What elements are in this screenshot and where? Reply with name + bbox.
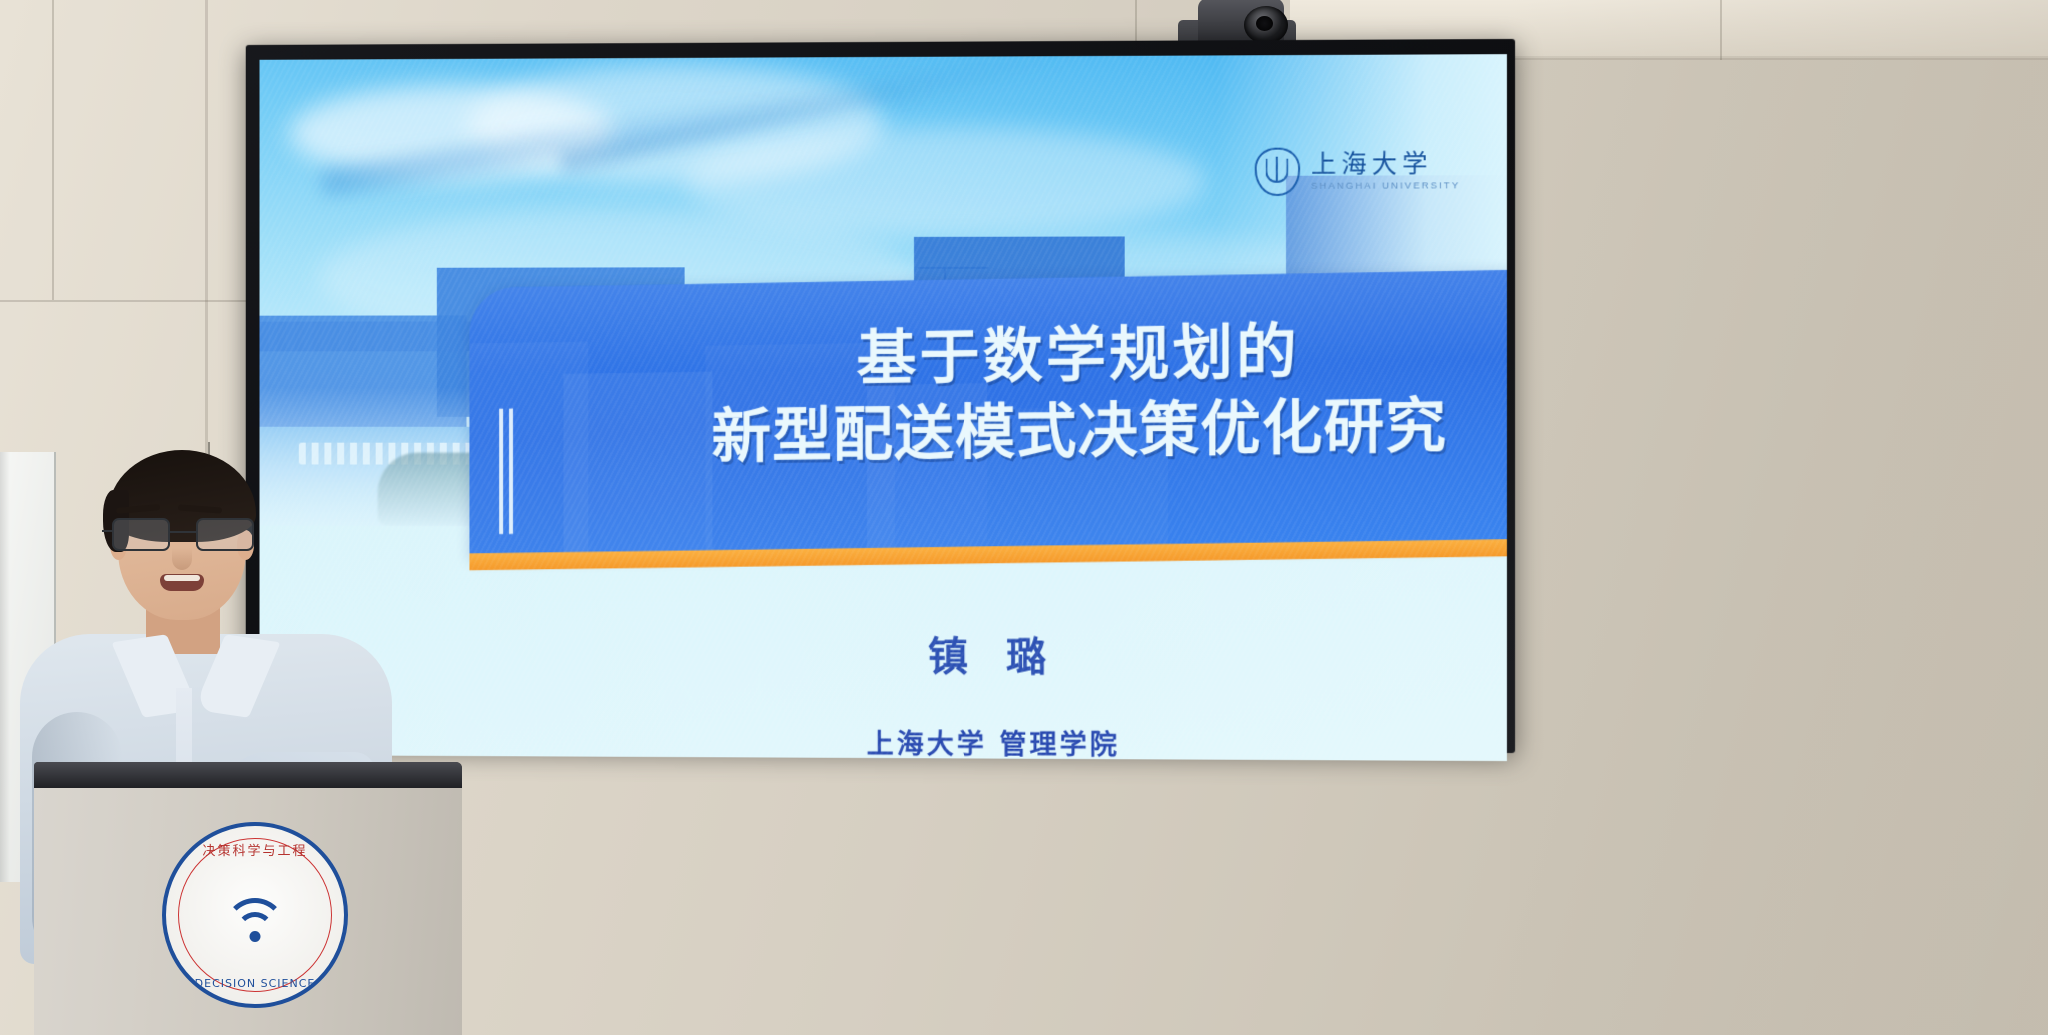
- display-bezel: 上海大学 SHANGHAI UNIVERSITY 基于数学规划的 新型配送模式决…: [246, 39, 1515, 753]
- wall-panel-right: [1510, 0, 2048, 1035]
- glasses-temple: [102, 530, 114, 532]
- podium-front-panel: 决策科学与工程 DECISION SCIENCE: [34, 788, 462, 1035]
- speaker-mouth: [160, 574, 204, 591]
- presentation-slide: 上海大学 SHANGHAI UNIVERSITY 基于数学规划的 新型配送模式决…: [260, 54, 1507, 761]
- presenter-affiliation: 上海大学 管理学院: [469, 720, 1506, 761]
- logo-text: 上海大学 SHANGHAI UNIVERSITY: [1311, 151, 1460, 191]
- glasses-lens: [196, 518, 254, 551]
- logo-text-en: SHANGHAI UNIVERSITY: [1311, 182, 1460, 192]
- glasses-icon: [110, 518, 256, 552]
- shanghai-university-logo: 上海大学 SHANGHAI UNIVERSITY: [1254, 147, 1460, 196]
- wifi-dot: [250, 931, 261, 942]
- accent-bar: [499, 409, 503, 534]
- title-line-1: 基于数学规划的: [658, 310, 1502, 400]
- speaker-nose: [172, 548, 192, 570]
- wall-seam: [52, 0, 54, 300]
- accent-bar: [509, 409, 513, 534]
- wall-seam: [0, 300, 255, 302]
- logo-text-cn: 上海大学: [1311, 151, 1460, 177]
- accent-bars-decoration: [499, 408, 515, 534]
- title-line-2: 新型配送模式决策优化研究: [658, 387, 1502, 476]
- emblem-bottom-text: DECISION SCIENCE: [166, 977, 344, 990]
- podium-top-surface: [34, 762, 462, 788]
- title-banner: 基于数学规划的 新型配送模式决策优化研究: [469, 270, 1506, 559]
- glasses-bridge: [170, 531, 196, 533]
- presenter-name: 镇 璐: [469, 623, 1506, 685]
- emblem-wifi-icon: [220, 898, 290, 946]
- podium: 决策科学与工程 DECISION SCIENCE: [34, 762, 462, 1035]
- podium-emblem: 决策科学与工程 DECISION SCIENCE: [162, 822, 348, 1008]
- emblem-top-text: 决策科学与工程: [166, 840, 344, 859]
- glasses-lens: [112, 518, 170, 551]
- presenter-info: 镇 璐 上海大学 管理学院: [469, 581, 1506, 761]
- wall-seam: [1720, 0, 1722, 60]
- camera-lens-icon: [1244, 6, 1288, 44]
- university-crest-icon: [1254, 148, 1299, 196]
- slide-title: 基于数学规划的 新型配送模式决策优化研究: [658, 310, 1502, 476]
